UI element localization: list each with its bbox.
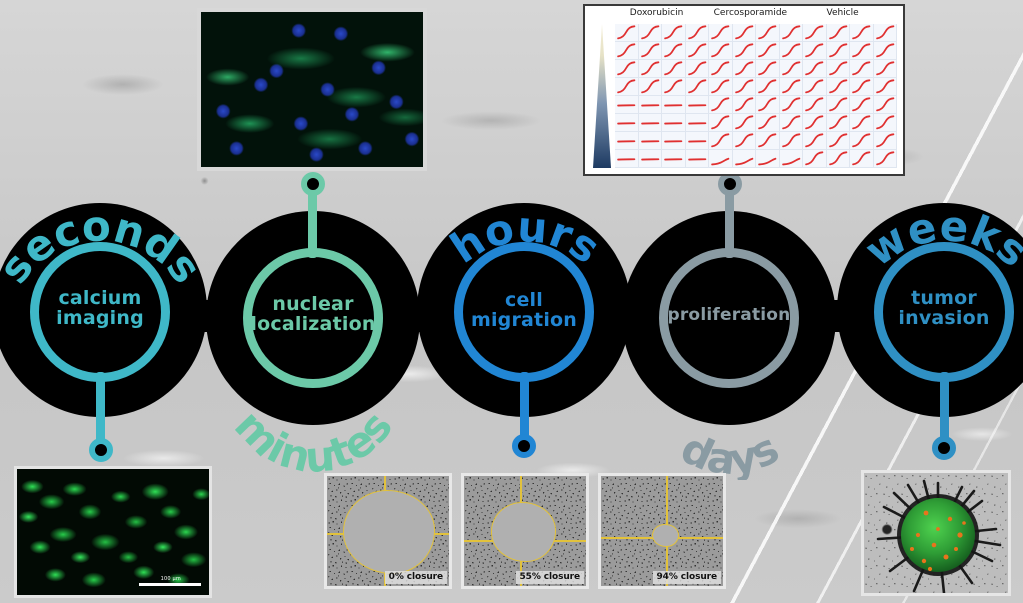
plate-well-E11 xyxy=(850,96,874,114)
plate-well-G8 xyxy=(780,132,804,150)
plate-well-D12 xyxy=(874,78,898,96)
plate-well-A1 xyxy=(615,24,639,42)
plate-well-A6 xyxy=(733,24,757,42)
plate-well-C3 xyxy=(662,60,686,78)
panel-wound-closure-0: 0% closure xyxy=(324,473,452,589)
plate-well-F9 xyxy=(803,114,827,132)
plate-well-B1 xyxy=(615,42,639,60)
plate-well-E5 xyxy=(709,96,733,114)
plate-well-F3 xyxy=(662,114,686,132)
magnifier-handle-calcium-imaging xyxy=(96,372,105,446)
plate-well-C6 xyxy=(733,60,757,78)
plate-well-E9 xyxy=(803,96,827,114)
plate-well-E7 xyxy=(756,96,780,114)
panel-wound-closure-2: 94% closure xyxy=(598,473,726,589)
plate-well-A11 xyxy=(850,24,874,42)
plate-well-E12 xyxy=(874,96,898,114)
chart-group-headers: Doxorubicin Cercosporamide Vehicle xyxy=(585,6,903,22)
plate-well-E10 xyxy=(827,96,851,114)
plate-well-G5 xyxy=(709,132,733,150)
magnifier-handle-tumor-invasion xyxy=(940,372,949,444)
plate-well-C11 xyxy=(850,60,874,78)
plate-well-H7 xyxy=(756,150,780,168)
plate-well-H9 xyxy=(803,150,827,168)
plate-well-B10 xyxy=(827,42,851,60)
plate-well-F8 xyxy=(780,114,804,132)
plate-well-B2 xyxy=(639,42,663,60)
plate-well-G11 xyxy=(850,132,874,150)
plate-well-E1 xyxy=(615,96,639,114)
plate-well-F10 xyxy=(827,114,851,132)
plate-well-B11 xyxy=(850,42,874,60)
plate-well-A7 xyxy=(756,24,780,42)
wound-gap-region xyxy=(343,490,435,573)
svg-text:days: days xyxy=(674,423,787,480)
plate-well-G3 xyxy=(662,132,686,150)
plate-well-E6 xyxy=(733,96,757,114)
plate-well-D4 xyxy=(686,78,710,96)
plate-well-A2 xyxy=(639,24,663,42)
pin-cell-migration xyxy=(512,434,536,458)
plate-well-C8 xyxy=(780,60,804,78)
plate-well-F5 xyxy=(709,114,733,132)
plate-well-B6 xyxy=(733,42,757,60)
plate-well-H6 xyxy=(733,150,757,168)
plate-well-C7 xyxy=(756,60,780,78)
plate-well-C9 xyxy=(803,60,827,78)
pin-nuclear-localization xyxy=(301,172,325,196)
plate-well-D9 xyxy=(803,78,827,96)
plate-well-H3 xyxy=(662,150,686,168)
plate-well-G7 xyxy=(756,132,780,150)
plate-well-D7 xyxy=(756,78,780,96)
plate-well-F2 xyxy=(639,114,663,132)
plate-well-D11 xyxy=(850,78,874,96)
pin-tumor-invasion xyxy=(932,436,956,460)
panel-nuclear-localization-image xyxy=(197,8,427,171)
plate-well-B8 xyxy=(780,42,804,60)
spheroid-graphic xyxy=(864,473,1011,596)
closure-label-2: 94% closure xyxy=(653,571,722,584)
plate-well-H12 xyxy=(874,150,898,168)
plate-well-A3 xyxy=(662,24,686,42)
plate-well-F11 xyxy=(850,114,874,132)
scalebar xyxy=(139,583,201,586)
plate-well-A12 xyxy=(874,24,898,42)
scalebar-label: 100 µm xyxy=(161,576,181,582)
plate-well-C12 xyxy=(874,60,898,78)
plate-well-H5 xyxy=(709,150,733,168)
plate-well-H1 xyxy=(615,150,639,168)
figure-canvas: seconds minutes hours days weeks calcium… xyxy=(0,0,1023,603)
plate-well-B7 xyxy=(756,42,780,60)
assay-label-nuclear-localization: nuclear localization xyxy=(245,294,381,334)
svg-text:minutes: minutes xyxy=(225,400,402,480)
plate-well-H8 xyxy=(780,150,804,168)
plate-well-C10 xyxy=(827,60,851,78)
panel-proliferation-plate-chart: Doxorubicin Cercosporamide Vehicle xyxy=(583,4,905,176)
pin-calcium-imaging xyxy=(89,438,113,462)
plate-well-G6 xyxy=(733,132,757,150)
timescale-label-minutes: minutes xyxy=(225,400,402,480)
plate-well-A10 xyxy=(827,24,851,42)
plate-well-D5 xyxy=(709,78,733,96)
plate-well-E8 xyxy=(780,96,804,114)
group-label-cercosporamide: Cercosporamide xyxy=(714,8,787,18)
plate-well-F7 xyxy=(756,114,780,132)
plate-well-G1 xyxy=(615,132,639,150)
plate-well-G9 xyxy=(803,132,827,150)
plate-well-B12 xyxy=(874,42,898,60)
plate-well-F4 xyxy=(686,114,710,132)
plate-well-D2 xyxy=(639,78,663,96)
timescale-label-days: days xyxy=(674,423,787,480)
panel-wound-closure-1: 55% closure xyxy=(461,473,589,589)
plate-well-G10 xyxy=(827,132,851,150)
plate-well-D10 xyxy=(827,78,851,96)
closure-label-0: 0% closure xyxy=(385,571,447,584)
group-label-vehicle: Vehicle xyxy=(826,8,858,18)
plate-well-C5 xyxy=(709,60,733,78)
plate-well-A8 xyxy=(780,24,804,42)
panel-calcium-imaging-image: 100 µm xyxy=(14,466,212,598)
plate-well-B5 xyxy=(709,42,733,60)
plate-well-E4 xyxy=(686,96,710,114)
plate-well-G2 xyxy=(639,132,663,150)
plate-well-C1 xyxy=(615,60,639,78)
plate-well-E3 xyxy=(662,96,686,114)
chart-colorbar-wedge xyxy=(591,24,613,168)
plate-well-H11 xyxy=(850,150,874,168)
closure-label-1: 55% closure xyxy=(516,571,585,584)
assay-label-tumor-invasion: tumor invasion xyxy=(880,288,1008,328)
plate-well-D6 xyxy=(733,78,757,96)
magnifier-handle-cell-migration xyxy=(520,372,529,442)
group-label-doxorubicin: Doxorubicin xyxy=(630,8,684,18)
plate-subplot-grid xyxy=(615,24,897,168)
plate-well-C4 xyxy=(686,60,710,78)
plate-well-C2 xyxy=(639,60,663,78)
assay-label-cell-migration: cell migration xyxy=(462,290,586,330)
plate-well-H4 xyxy=(686,150,710,168)
plate-well-G4 xyxy=(686,132,710,150)
plate-well-B4 xyxy=(686,42,710,60)
plate-well-H2 xyxy=(639,150,663,168)
plate-well-F12 xyxy=(874,114,898,132)
plate-well-D3 xyxy=(662,78,686,96)
plate-well-F1 xyxy=(615,114,639,132)
plate-well-E2 xyxy=(639,96,663,114)
plate-well-H10 xyxy=(827,150,851,168)
plate-well-A4 xyxy=(686,24,710,42)
plate-well-B3 xyxy=(662,42,686,60)
plate-well-A5 xyxy=(709,24,733,42)
assay-label-proliferation: proliferation xyxy=(655,306,803,324)
wound-gap-region xyxy=(652,524,678,547)
plate-well-D8 xyxy=(780,78,804,96)
plate-well-A9 xyxy=(803,24,827,42)
plate-well-F6 xyxy=(733,114,757,132)
plate-well-D1 xyxy=(615,78,639,96)
assay-label-calcium-imaging: calcium imaging xyxy=(40,288,160,328)
plate-well-G12 xyxy=(874,132,898,150)
plate-well-B9 xyxy=(803,42,827,60)
panel-tumor-spheroid-image xyxy=(861,470,1011,596)
wound-gap-region xyxy=(491,502,556,561)
